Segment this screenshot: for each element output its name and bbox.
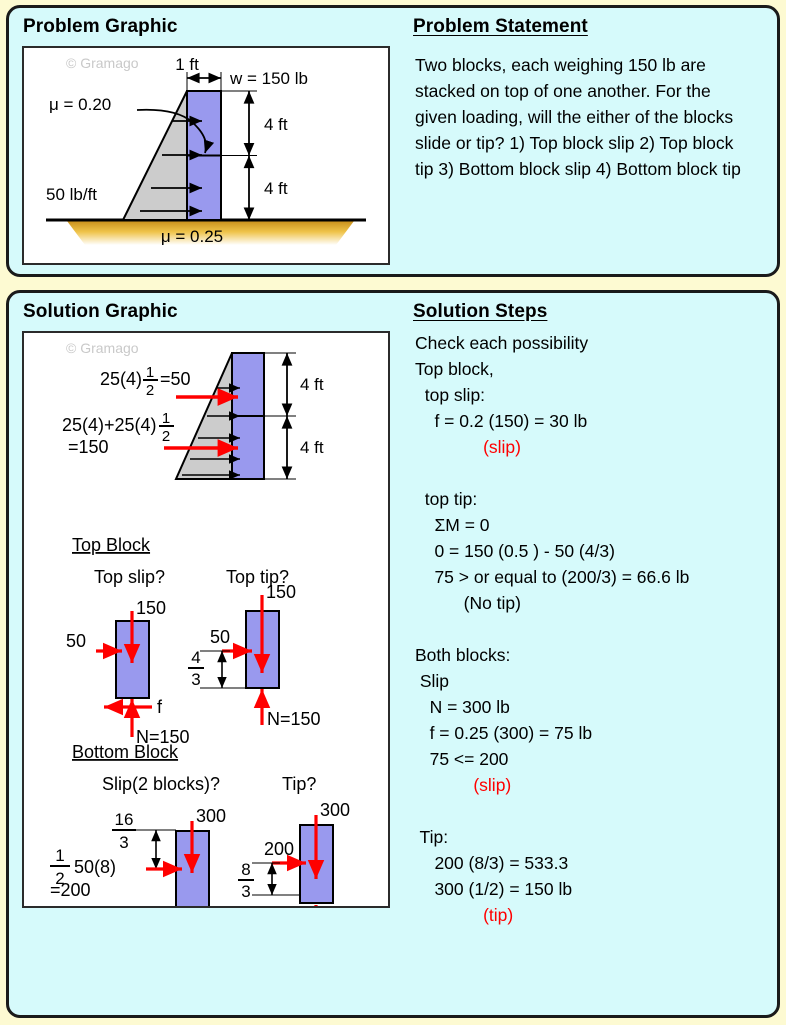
- bottom-tip-arm-den: 3: [241, 882, 250, 901]
- problem-panel: Problem Graphic Problem Statement © Gram…: [6, 5, 780, 277]
- step-line: Tip:: [415, 827, 765, 853]
- step-line: (slip): [415, 775, 765, 801]
- label-dim-lower: 4 ft: [264, 179, 288, 198]
- solution-graphic-heading: Solution Graphic: [23, 301, 178, 323]
- label-mu-top: μ = 0.20: [49, 95, 111, 114]
- resultant-bottom-expr: 25(4)+25(4): [62, 415, 157, 435]
- label-weight: w = 150 lb: [229, 69, 308, 88]
- solution-graphic-frame: © Gramago: [22, 331, 390, 908]
- bottom-tip-push-label: 200: [264, 839, 294, 859]
- top-tip-push-label: 50: [210, 627, 230, 647]
- step-line: f = 0.25 (300) = 75 lb: [415, 723, 765, 749]
- step-line: 200 (8/3) = 533.3: [415, 853, 765, 879]
- resultant-top-tail: =50: [160, 369, 191, 389]
- step-line: (No tip): [415, 593, 765, 619]
- bottom-slip-arm-den: 3: [119, 833, 128, 852]
- label-distributed-load: 50 lb/ft: [46, 185, 97, 204]
- step-line: (tip): [415, 905, 765, 931]
- top-tip-weight-label: 150: [266, 582, 296, 602]
- bottom-slip-weight-label: 300: [196, 806, 226, 826]
- top-tip-arm-den: 3: [191, 670, 200, 689]
- step-line: 75 > or equal to (200/3) = 66.6 lb: [415, 567, 765, 593]
- top-slip-title: Top slip?: [94, 567, 165, 587]
- problem-diagram: 1 ft w = 150 lb μ = 0.20 4 ft 4 ft 50 lb…: [24, 48, 388, 263]
- resultant-bottom-result: =150: [68, 437, 109, 457]
- step-line: f = 0.2 (150) = 30 lb: [415, 411, 765, 437]
- step-line: 300 (1/2) = 150 lb: [415, 879, 765, 905]
- watermark-problem: © Gramago: [66, 55, 139, 71]
- bottom-tip-title: Tip?: [282, 774, 316, 794]
- bottom-slip-arm-num: 16: [115, 810, 134, 829]
- bottom-block-section-title: Bottom Block: [72, 742, 179, 762]
- step-line: ΣM = 0: [415, 515, 765, 541]
- step-spacer: [415, 801, 765, 827]
- label-width-dim: 1 ft: [175, 55, 199, 74]
- step-line: Slip: [415, 671, 765, 697]
- problem-statement-heading: Problem Statement: [413, 16, 588, 38]
- solution-steps-heading: Solution Steps: [413, 301, 547, 323]
- problem-statement-text: Two blocks, each weighing 150 lb are sta…: [415, 52, 755, 182]
- bottom-tip-weight-label: 300: [320, 800, 350, 820]
- bottom-slip-load-expr: 50(8): [74, 857, 116, 877]
- bottom-slip-load-result: =200: [50, 880, 91, 900]
- bottom-slip-load-frac-num: 1: [55, 846, 64, 865]
- problem-graphic-heading: Problem Graphic: [23, 16, 178, 38]
- problem-graphic-frame: © Gramago: [22, 46, 390, 265]
- resultant-bottom-frac-num: 1: [162, 410, 170, 427]
- resultant-top-frac-num: 1: [146, 364, 154, 381]
- step-line: Both blocks:: [415, 645, 765, 671]
- solution-top-block: [232, 353, 264, 416]
- top-block-section-title: Top Block: [72, 535, 151, 555]
- resultant-top-frac-den: 2: [146, 382, 154, 399]
- step-line: top slip:: [415, 385, 765, 411]
- resultant-top-expr: 25(4): [100, 369, 142, 389]
- bottom-slip-title: Slip(2 blocks)?: [102, 774, 220, 794]
- solution-dim-lower: 4 ft: [300, 438, 324, 457]
- label-mu-ground: μ = 0.25: [161, 227, 223, 246]
- step-line: Check each possibility: [415, 333, 765, 359]
- solution-steps-list: Check each possibilityTop block, top sli…: [415, 333, 765, 931]
- solution-diagram: 4 ft 4 ft 25(4) 1 2 =50 25(4)+25(4) 1 2 …: [24, 333, 388, 906]
- top-slip-push-label: 50: [66, 631, 86, 651]
- step-line: (slip): [415, 437, 765, 463]
- solution-dim-upper: 4 ft: [300, 375, 324, 394]
- step-line: N = 300 lb: [415, 697, 765, 723]
- resultant-bottom-frac-den: 2: [162, 428, 170, 445]
- top-tip-normal-label: N=150: [267, 709, 321, 729]
- step-line: top tip:: [415, 489, 765, 515]
- solution-panel: Solution Graphic Solution Steps © Gramag…: [6, 290, 780, 1018]
- top-slip-friction-label: f: [157, 697, 163, 717]
- step-spacer: [415, 463, 765, 489]
- bottom-tip-arm-num: 8: [241, 860, 250, 879]
- step-line: 0 = 150 (0.5 ) - 50 (4/3): [415, 541, 765, 567]
- watermark-solution: © Gramago: [66, 340, 139, 356]
- top-tip-arm-num: 4: [191, 648, 200, 667]
- step-line: Top block,: [415, 359, 765, 385]
- page-root: Problem Graphic Problem Statement © Gram…: [0, 0, 786, 1025]
- step-spacer: [415, 619, 765, 645]
- step-line: 75 <= 200: [415, 749, 765, 775]
- top-slip-weight-label: 150: [136, 598, 166, 618]
- label-dim-upper: 4 ft: [264, 115, 288, 134]
